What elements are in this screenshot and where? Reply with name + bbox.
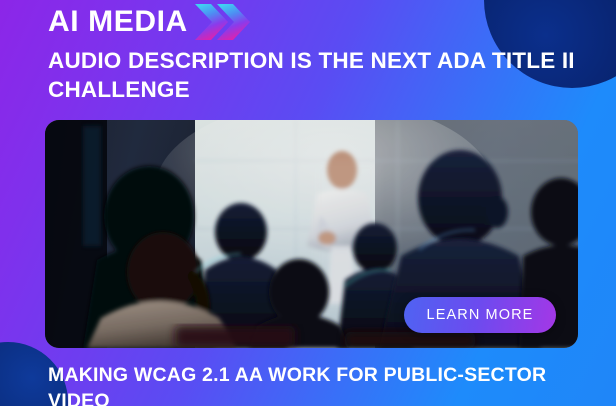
double-chevron-right-icon [195, 2, 253, 42]
brand-logo: AI MEDIA [48, 2, 253, 42]
brand-name: AI MEDIA [48, 7, 188, 37]
promo-banner: AI MEDIA AUDIO DESCRIPTION IS THE NEXT A… [0, 0, 616, 406]
headline: AUDIO DESCRIPTION IS THE NEXT ADA TITLE … [48, 46, 578, 105]
strapline: MAKING WCAG 2.1 AA WORK FOR PUBLIC-SECTO… [48, 363, 588, 406]
learn-more-button[interactable]: LEARN MORE [404, 297, 556, 333]
